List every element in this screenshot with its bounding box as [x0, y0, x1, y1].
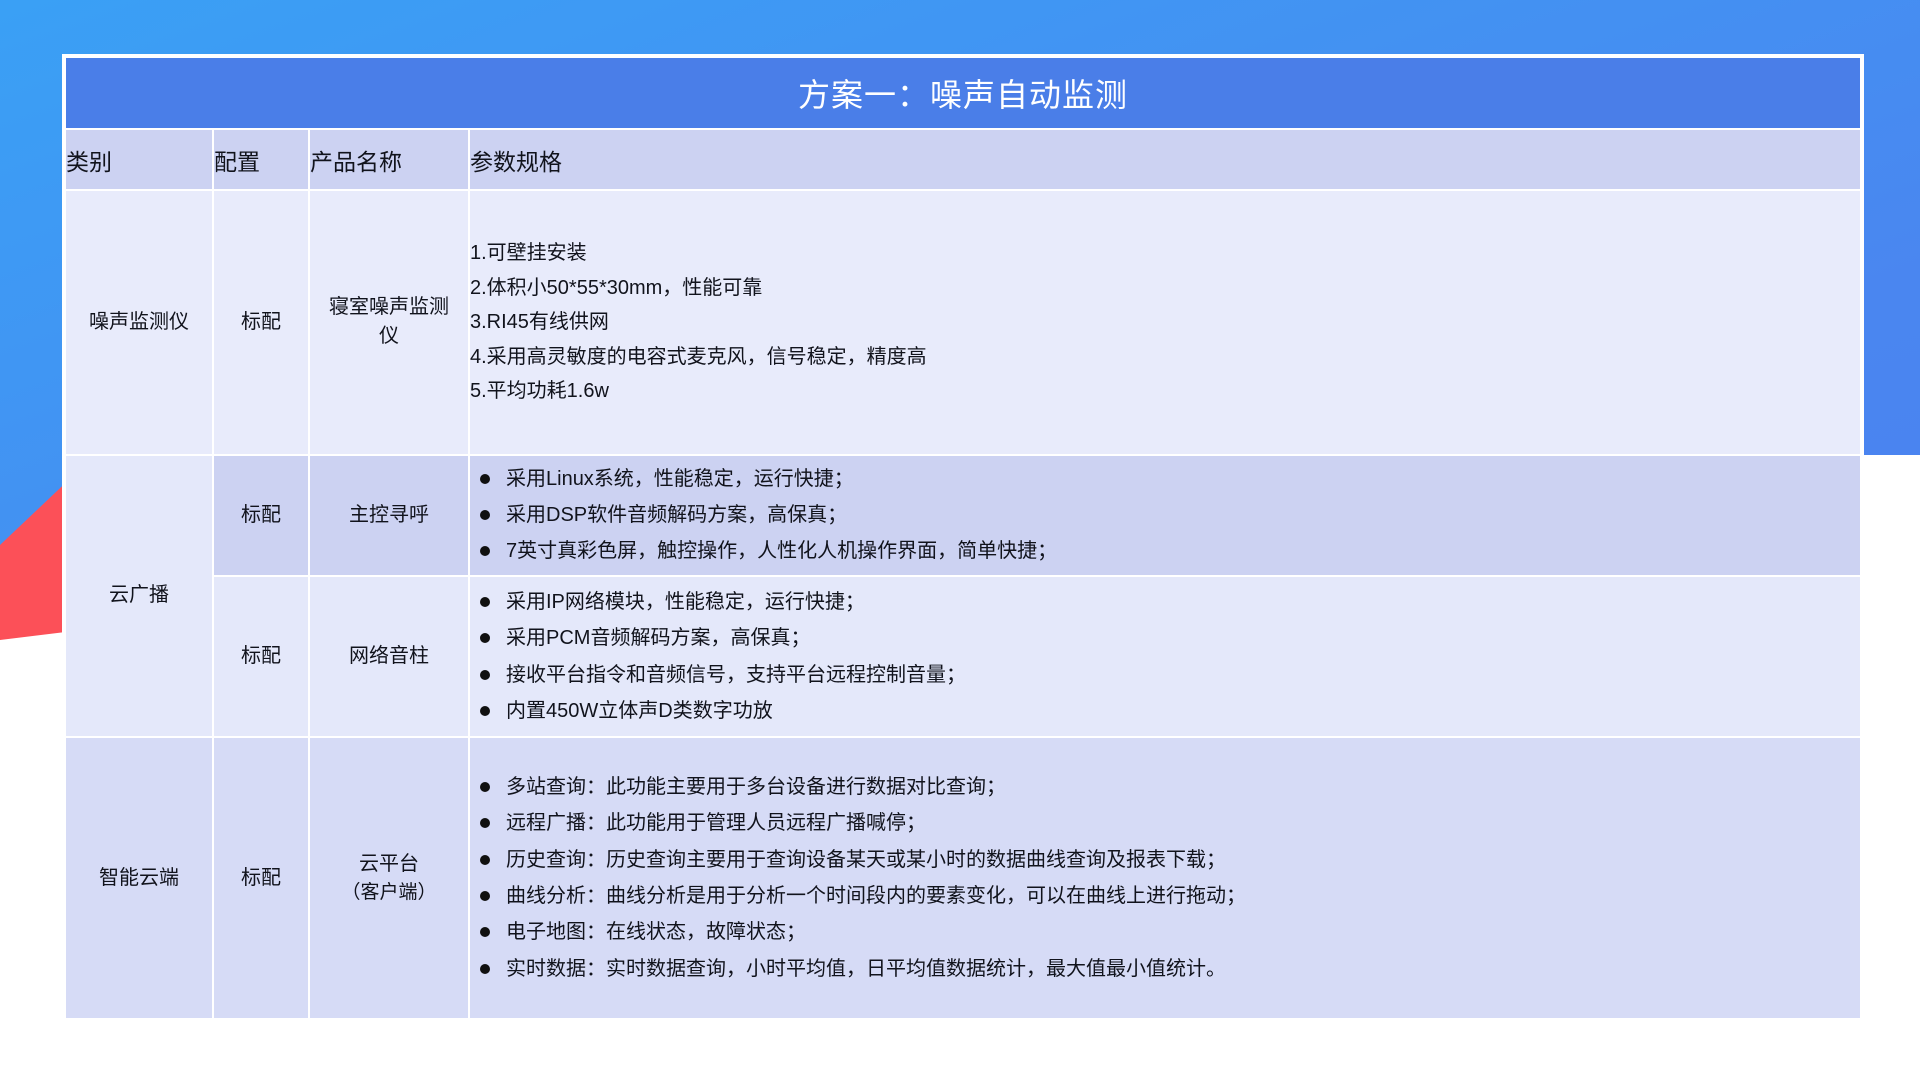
cell-spec-network-speaker: 采用IP网络模块，性能稳定，运行快捷； 采用PCM音频解码方案，高保真； 接收平… [469, 576, 1861, 737]
spec-table-container: 方案一：噪声自动监测 类别 配置 产品名称 参数规格 噪声监测仪 标配 寝室噪声… [62, 54, 1864, 1022]
spec-list-main-pager: 采用Linux系统，性能稳定，运行快捷； 采用DSP软件音频解码方案，高保真； … [470, 461, 1860, 570]
list-item: 内置450W立体声D类数字功放 [470, 693, 1860, 729]
cell-spec-noise-monitor: 1.可壁挂安装 2.体积小50*55*30mm，性能可靠 3.RI45有线供网 … [469, 190, 1861, 454]
list-item: 4.采用高灵敏度的电容式麦克风，信号稳定，精度高 [470, 340, 1860, 374]
list-item: 接收平台指令和音频信号，支持平台远程控制音量； [470, 657, 1860, 693]
cell-spec-main-pager: 采用Linux系统，性能稳定，运行快捷； 采用DSP软件音频解码方案，高保真； … [469, 455, 1861, 576]
column-header-product: 产品名称 [309, 129, 469, 190]
table-row: 标配 网络音柱 采用IP网络模块，性能稳定，运行快捷； 采用PCM音频解码方案，… [65, 576, 1861, 737]
cell-config-noise-monitor: 标配 [213, 190, 309, 454]
cell-config-network-speaker: 标配 [213, 576, 309, 737]
list-item: 1.可壁挂安装 [470, 236, 1860, 270]
table-row: 云广播 标配 主控寻呼 采用Linux系统，性能稳定，运行快捷； 采用DSP软件… [65, 455, 1861, 576]
spec-table: 方案一：噪声自动监测 类别 配置 产品名称 参数规格 噪声监测仪 标配 寝室噪声… [64, 56, 1862, 1020]
spec-list-noise-monitor: 1.可壁挂安装 2.体积小50*55*30mm，性能可靠 3.RI45有线供网 … [470, 236, 1860, 408]
spec-list-network-speaker: 采用IP网络模块，性能稳定，运行快捷； 采用PCM音频解码方案，高保真； 接收平… [470, 584, 1860, 730]
table-row: 智能云端 标配 云平台 （客户端） 多站查询：此功能主要用于多台设备进行数据对比… [65, 737, 1861, 1019]
cell-config-main-pager: 标配 [213, 455, 309, 576]
cell-spec-cloud-platform: 多站查询：此功能主要用于多台设备进行数据对比查询； 远程广播：此功能用于管理人员… [469, 737, 1861, 1019]
product-name-line1: 寝室噪声监测 [329, 296, 449, 318]
list-item: 采用DSP软件音频解码方案，高保真； [470, 497, 1860, 533]
cell-category-noise-monitor: 噪声监测仪 [65, 190, 213, 454]
cell-config-cloud-platform: 标配 [213, 737, 309, 1019]
product-name-line1: 云平台 [359, 853, 419, 875]
list-item: 3.RI45有线供网 [470, 305, 1860, 339]
table-title-row: 方案一：噪声自动监测 [65, 57, 1861, 129]
list-item: 多站查询：此功能主要用于多台设备进行数据对比查询； [470, 769, 1860, 805]
column-header-config: 配置 [213, 129, 309, 190]
product-name-line2: 仪 [379, 325, 399, 347]
column-header-category: 类别 [65, 129, 213, 190]
list-item: 远程广播：此功能用于管理人员远程广播喊停； [470, 805, 1860, 841]
spec-list-cloud-platform: 多站查询：此功能主要用于多台设备进行数据对比查询； 远程广播：此功能用于管理人员… [470, 769, 1860, 987]
list-item: 电子地图：在线状态，故障状态； [470, 914, 1860, 950]
cell-product-main-pager: 主控寻呼 [309, 455, 469, 576]
product-name-line2: （客户端） [310, 879, 468, 907]
list-item: 历史查询：历史查询主要用于查询设备某天或某小时的数据曲线查询及报表下载； [470, 842, 1860, 878]
cell-category-cloud-broadcast: 云广播 [65, 455, 213, 738]
cell-product-cloud-platform: 云平台 （客户端） [309, 737, 469, 1019]
list-item: 采用IP网络模块，性能稳定，运行快捷； [470, 584, 1860, 620]
cell-category-smart-cloud: 智能云端 [65, 737, 213, 1019]
list-item: 采用PCM音频解码方案，高保真； [470, 620, 1860, 656]
table-row: 噪声监测仪 标配 寝室噪声监测 仪 1.可壁挂安装 2.体积小50*55*30m… [65, 190, 1861, 454]
list-item: 2.体积小50*55*30mm，性能可靠 [470, 271, 1860, 305]
list-item: 采用Linux系统，性能稳定，运行快捷； [470, 461, 1860, 497]
table-header-row: 类别 配置 产品名称 参数规格 [65, 129, 1861, 190]
list-item: 5.平均功耗1.6w [470, 374, 1860, 408]
column-header-spec: 参数规格 [469, 129, 1861, 190]
page-title: 方案一：噪声自动监测 [65, 57, 1861, 129]
cell-product-noise-monitor: 寝室噪声监测 仪 [309, 190, 469, 454]
cell-product-network-speaker: 网络音柱 [309, 576, 469, 737]
list-item: 实时数据：实时数据查询，小时平均值，日平均值数据统计，最大值最小值统计。 [470, 951, 1860, 987]
list-item: 7英寸真彩色屏，触控操作，人性化人机操作界面，简单快捷； [470, 533, 1860, 569]
list-item: 曲线分析：曲线分析是用于分析一个时间段内的要素变化，可以在曲线上进行拖动； [470, 878, 1860, 914]
